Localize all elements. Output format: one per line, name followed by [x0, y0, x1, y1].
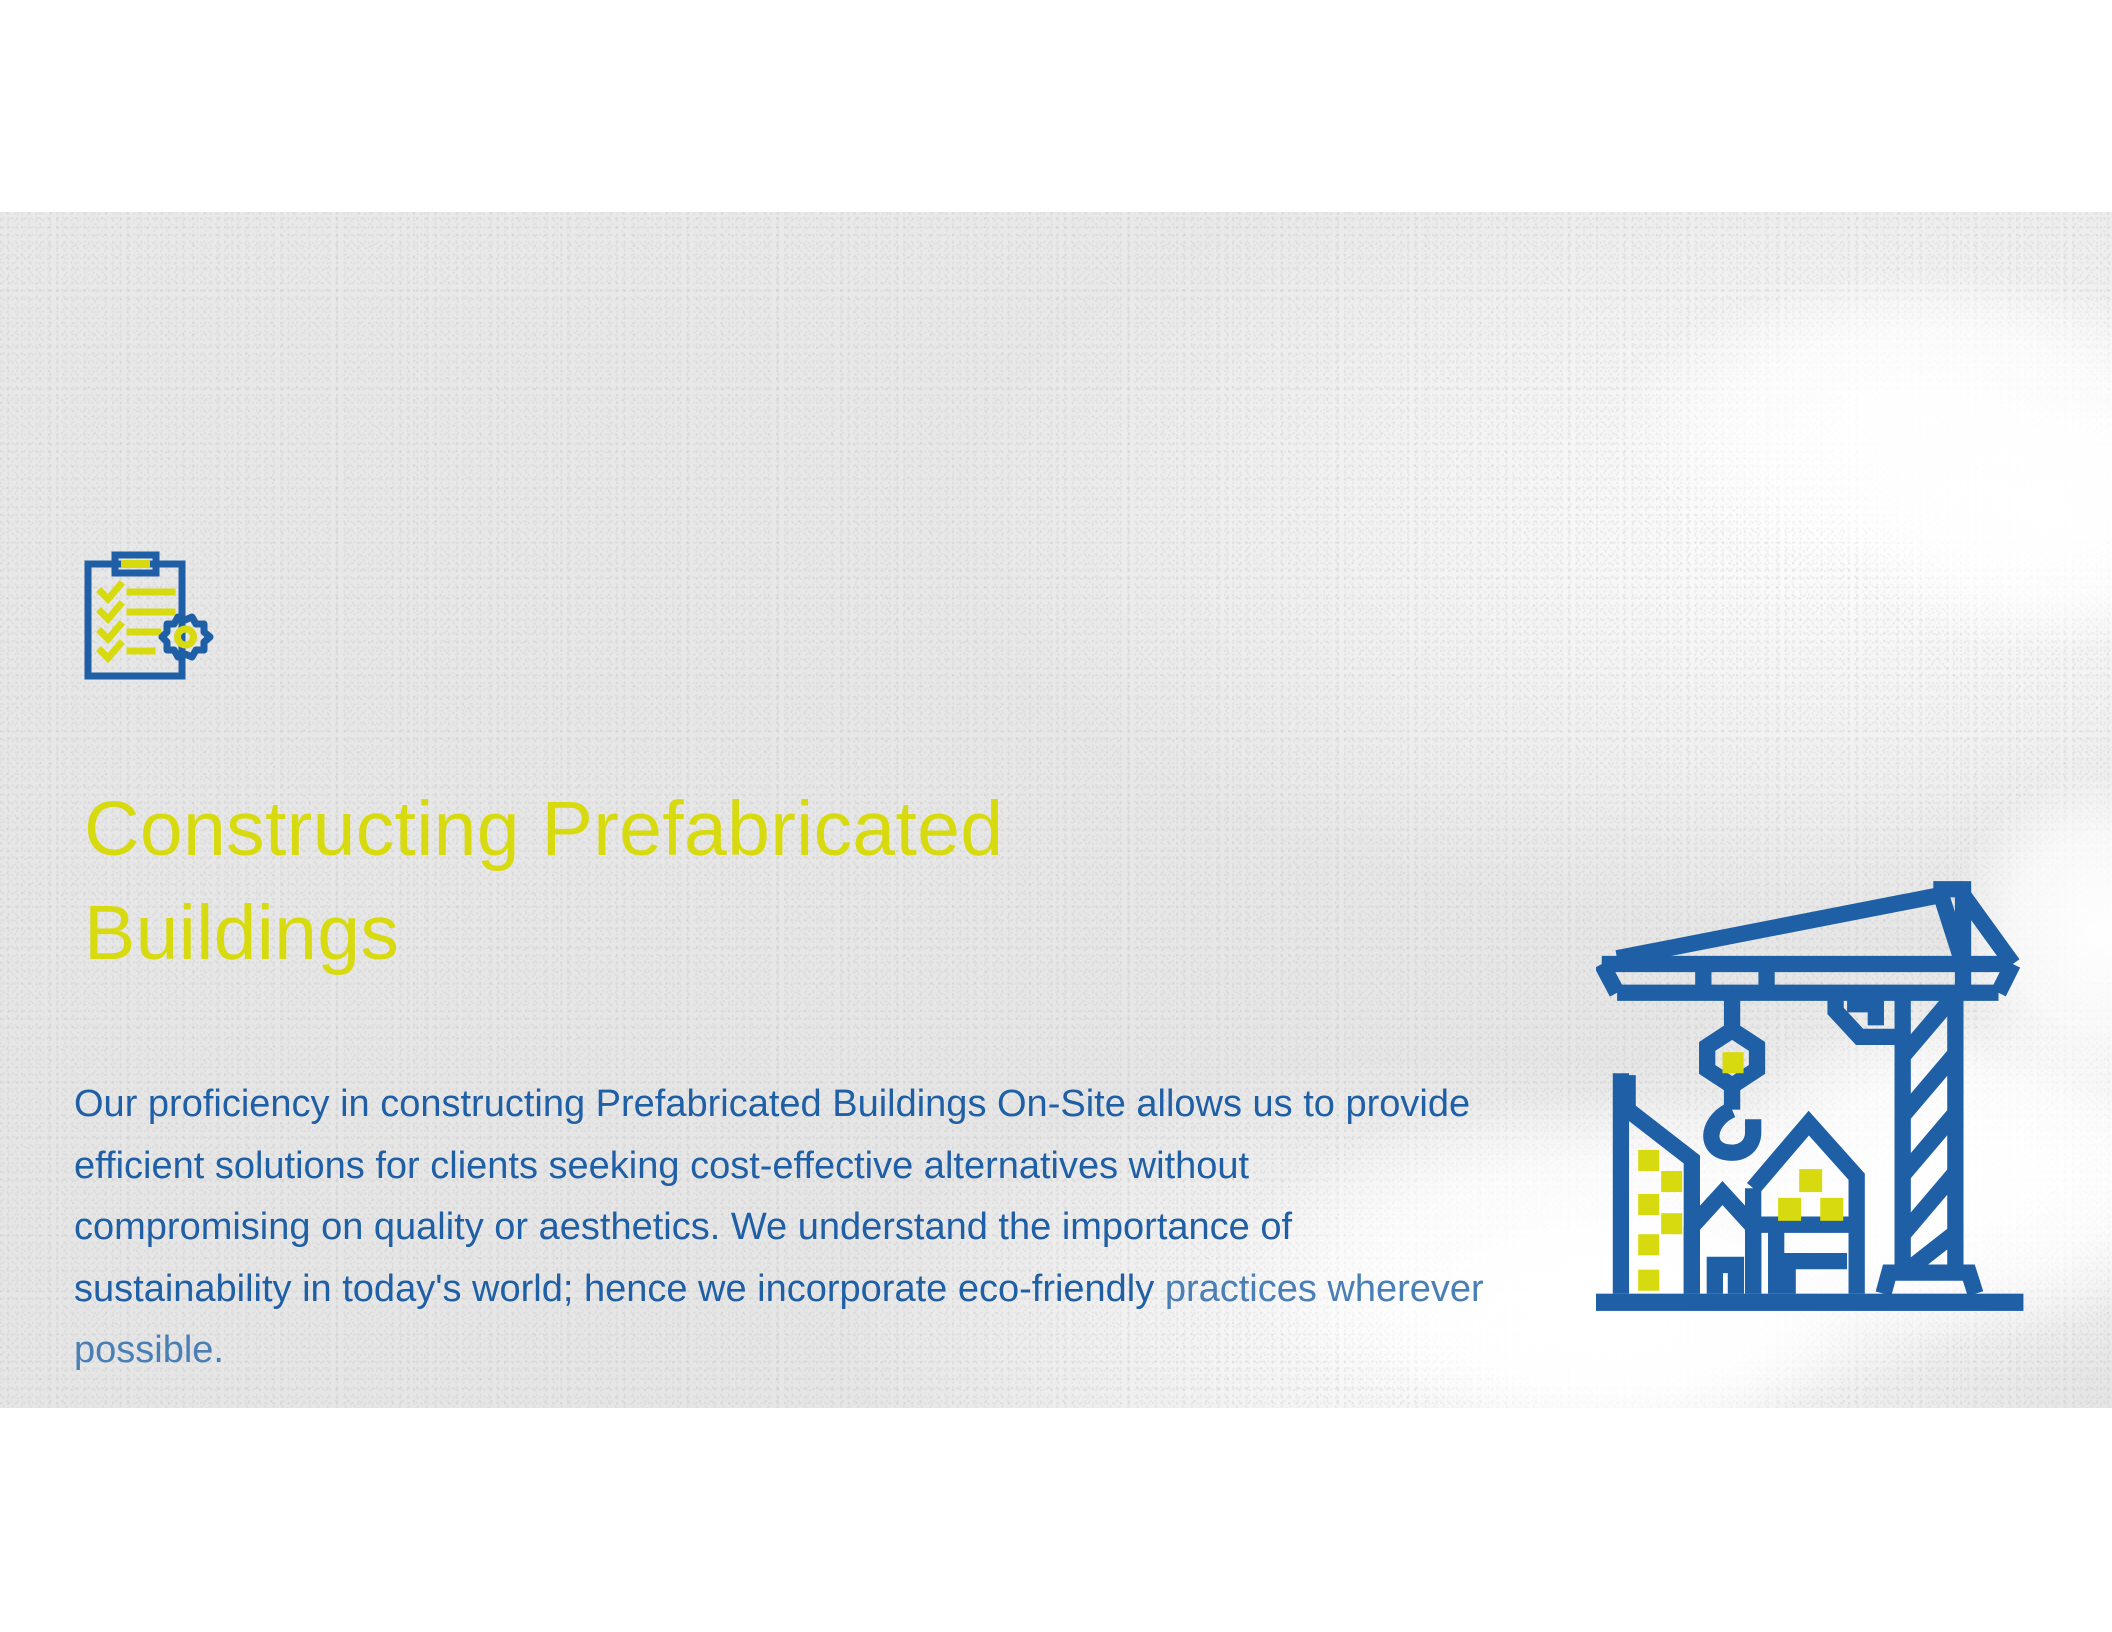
cloud-decoration — [1840, 392, 2112, 652]
tower-crane-construction-icon — [1596, 867, 2056, 1337]
slide-canvas: Constructing Prefabricated Buildings Our… — [0, 0, 2112, 1632]
body-paragraph: Our proficiency in constructing Prefabri… — [74, 1074, 1494, 1382]
clipboard-checklist-gear-icon — [74, 550, 222, 684]
cloud-decoration — [1620, 272, 2112, 572]
page-title: Constructing Prefabricated Buildings — [84, 778, 1284, 986]
slide-surface: Constructing Prefabricated Buildings Our… — [0, 212, 2112, 1408]
